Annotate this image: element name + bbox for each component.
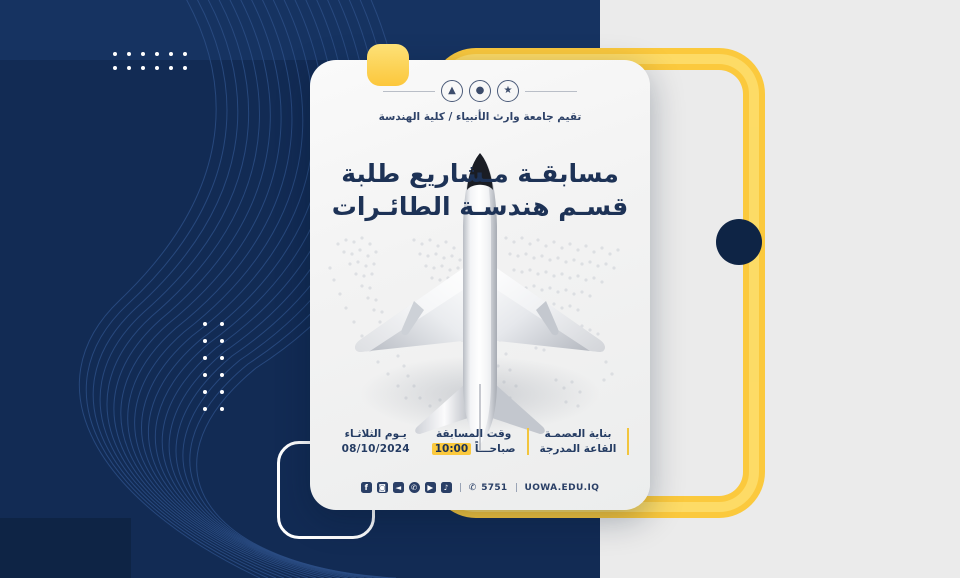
info-time-value: صباحـــاً 10:00: [432, 443, 516, 455]
crest-right-icon: ★: [497, 80, 519, 102]
whatsapp-icon[interactable]: ✆: [409, 482, 420, 493]
website-url[interactable]: UOWA.EDU.IQ: [525, 483, 600, 493]
crest-left-icon: ▲: [441, 80, 463, 102]
crest-center-icon: ●: [469, 80, 491, 102]
info-time-label: وقت المسابقة: [432, 428, 516, 440]
poster-canvas: ★ ● ▲ تقيم جامعة وارث الأنبياء / كلية ال…: [0, 0, 960, 578]
info-time-badge: 10:00: [432, 443, 471, 455]
crest-divider-left: [383, 91, 435, 92]
info-place-line-2: القاعة المدرجة: [540, 443, 617, 455]
footer-divider-1: [460, 483, 461, 492]
poster-card: ★ ● ▲ تقيم جامعة وارث الأنبياء / كلية ال…: [310, 60, 650, 510]
info-day-value: 08/10/2024: [342, 443, 410, 455]
telegram-icon[interactable]: ◄: [393, 482, 404, 493]
info-day: يـوم الثلاثـاء 08/10/2024: [331, 428, 421, 455]
tiktok-icon[interactable]: ♪: [441, 482, 452, 493]
poster-title: مسابقـة مـشاريع طلبة قسـم هندسـة الطائـر…: [310, 157, 650, 223]
info-place-line-1: بناية العصمـة: [540, 428, 617, 440]
info-place: بناية العصمـة القاعة المدرجة: [529, 428, 630, 455]
facebook-icon[interactable]: f: [361, 482, 372, 493]
crest-row: ★ ● ▲: [310, 80, 650, 102]
youtube-icon[interactable]: ▶: [425, 482, 436, 493]
instagram-icon[interactable]: ◙: [377, 482, 388, 493]
info-day-label: يـوم الثلاثـاء: [342, 428, 410, 440]
card-header: ★ ● ▲ تقيم جامعة وارث الأنبياء / كلية ال…: [310, 80, 650, 123]
navy-accent-circle: [716, 219, 762, 265]
title-line-1: مسابقـة مـشاريع طلبة: [310, 157, 650, 190]
phone-icon: ✆: [469, 483, 477, 493]
footer-divider-2: [516, 483, 517, 492]
crest-divider-right: [525, 91, 577, 92]
dot-grid-left: [190, 322, 224, 424]
yellow-accent-squircle: [367, 44, 409, 86]
dot-grid-top: [103, 52, 187, 80]
phone-number[interactable]: 5751: [481, 483, 507, 493]
footer-contact-row: f ◙ ◄ ✆ ▶ ♪ ✆ 5751 UOWA.EDU.IQ: [310, 482, 650, 493]
info-time-suffix: صباحـــاً: [475, 443, 516, 455]
title-line-2: قسـم هندسـة الطائـرات: [310, 190, 650, 223]
info-time: وقت المسابقة صباحـــاً 10:00: [421, 428, 529, 455]
navy-bottom-left-bar: [0, 518, 131, 578]
event-info-bar: يـوم الثلاثـاء 08/10/2024 وقت المسابقة ص…: [322, 428, 638, 455]
organizer-line: تقيم جامعة وارث الأنبياء / كلية الهندسة: [310, 111, 650, 123]
